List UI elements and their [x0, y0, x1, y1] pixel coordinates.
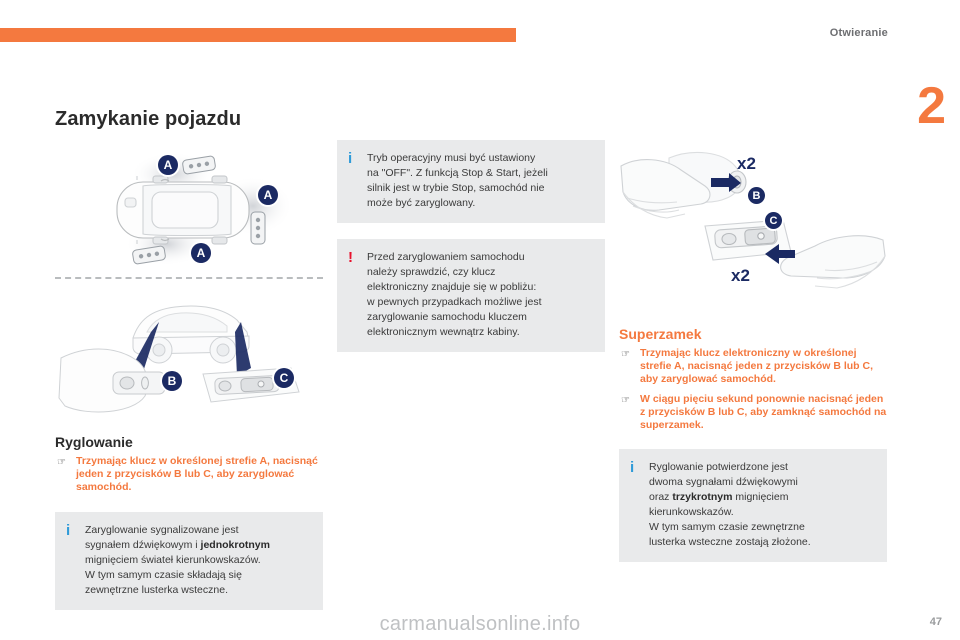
figure-car-top-view: A A A	[55, 140, 323, 280]
note-line: W tym samym czasie składają się	[85, 568, 311, 583]
superzamek-bullet-list: ☞ Trzymając klucz elektroniczny w określ…	[619, 347, 887, 432]
bullet-pointer-icon: ☞	[57, 456, 66, 469]
note-line: w pewnych przypadkach możliwe jest	[367, 295, 593, 310]
bullet-text: Trzymając klucz elektroniczny w określon…	[640, 347, 873, 385]
note-line: należy sprawdzić, czy klucz	[367, 265, 593, 280]
note-line: zewnętrzne lusterka wsteczne.	[85, 583, 311, 598]
callout-badge-b-right: B	[748, 187, 765, 204]
note-bold-word: jednokrotnym	[201, 539, 270, 551]
watermark: carmanualsonline.info	[0, 613, 960, 636]
note-bold-word: trzykrotnym	[672, 491, 732, 503]
note-operating-mode-info: i Tryb operacyjny musi być ustawiony na …	[337, 140, 605, 223]
note-line: W tym samym czasie zewnętrzne	[649, 520, 875, 535]
car-side-view-svg	[55, 280, 323, 420]
x2-label-top: x2	[737, 154, 756, 174]
header-accent-bar	[0, 28, 516, 42]
note-line-bold-host: sygnałem dźwiękowym i jednokrotnym	[85, 538, 311, 553]
note-line: może być zaryglowany.	[367, 196, 593, 211]
bullet-text: Trzymając klucz w określonej strefie A, …	[76, 455, 318, 493]
x2-label-bottom: x2	[731, 266, 750, 286]
note-line: silnik jest w trybie Stop, samochód nie	[367, 181, 593, 196]
figure-hands-pressing-buttons: x2 x2 B C	[619, 140, 887, 312]
callout-badge-c: C	[274, 368, 294, 388]
car-top-view-svg	[55, 140, 323, 280]
bullet-pointer-icon: ☞	[621, 348, 630, 361]
note-line: na "OFF". Z funkcją Stop & Start, jeżeli	[367, 166, 593, 181]
note-line: mignięciem świateł kierunkowskazów.	[85, 553, 311, 568]
note-warning-electronic-key: ! Przed zaryglowaniem samochodu należy s…	[337, 239, 605, 352]
callout-badge-c-right: C	[765, 212, 782, 229]
section-heading-superzamek: Superzamek	[619, 326, 887, 342]
figure-car-side-view: B C	[55, 280, 323, 420]
right-column: x2 x2 B C Superzamek ☞ Trzymając klucz e…	[619, 140, 887, 562]
callout-badge-a-top: A	[158, 155, 178, 175]
callout-badge-b: B	[162, 371, 182, 391]
note-line: elektroniczny znajduje się w pobliżu:	[367, 280, 593, 295]
bullet-text: W ciągu pięciu sekund ponownie nacisnąć …	[640, 393, 886, 431]
callout-badge-a-right: A	[258, 185, 278, 205]
note-line: zaryglowanie samochodu kluczem	[367, 310, 593, 325]
note-line: dwoma sygnałami dźwiękowymi	[649, 475, 875, 490]
note-line: Przed zaryglowaniem samochodu	[367, 250, 593, 265]
note-line-bold-host: oraz trzykrotnym mignięciem	[649, 490, 875, 505]
note-line: lusterka wsteczne zostają złożone.	[649, 535, 875, 550]
chapter-number: 2	[917, 80, 946, 132]
page-title: Zamykanie pojazdu	[55, 108, 241, 131]
ryglowanie-bullet-list: ☞ Trzymając klucz w określonej strefie A…	[55, 455, 323, 495]
note-line: Ryglowanie potwierdzone jest	[649, 460, 875, 475]
section-heading-ryglowanie: Ryglowanie	[55, 434, 323, 450]
info-icon: i	[348, 151, 352, 166]
manual-page: Otwieranie 2 Zamykanie pojazdu	[0, 0, 960, 640]
note-ryglowanie-info: i Zaryglowanie sygnalizowane jest sygnał…	[55, 512, 323, 610]
list-item: ☞ Trzymając klucz w określonej strefie A…	[55, 455, 323, 495]
note-line: mignięciem	[732, 491, 788, 503]
chapter-label: Otwieranie	[830, 27, 888, 39]
warning-icon: !	[348, 250, 353, 265]
callout-badge-a-bottom: A	[191, 243, 211, 263]
note-line: oraz	[649, 491, 672, 503]
key-fob-right	[251, 212, 265, 244]
note-line: Zaryglowanie sygnalizowane jest	[85, 523, 311, 538]
note-line: elektronicznym wewnątrz kabiny.	[367, 325, 593, 340]
figure-divider	[55, 277, 323, 279]
info-icon: i	[66, 523, 70, 538]
info-icon: i	[630, 460, 634, 475]
note-line: kierunkowskazów.	[649, 505, 875, 520]
list-item: ☞ W ciągu pięciu sekund ponownie nacisną…	[619, 393, 887, 433]
note-line: sygnałem dźwiękowym i	[85, 539, 201, 551]
page-number: 47	[930, 616, 942, 628]
list-item: ☞ Trzymając klucz elektroniczny w określ…	[619, 347, 887, 387]
note-line: Tryb operacyjny musi być ustawiony	[367, 151, 593, 166]
middle-column: i Tryb operacyjny musi być ustawiony na …	[337, 140, 605, 352]
note-superzamek-info: i Ryglowanie potwierdzone jest dwoma syg…	[619, 449, 887, 562]
bullet-pointer-icon: ☞	[621, 394, 630, 407]
left-column: A A A	[55, 140, 323, 610]
